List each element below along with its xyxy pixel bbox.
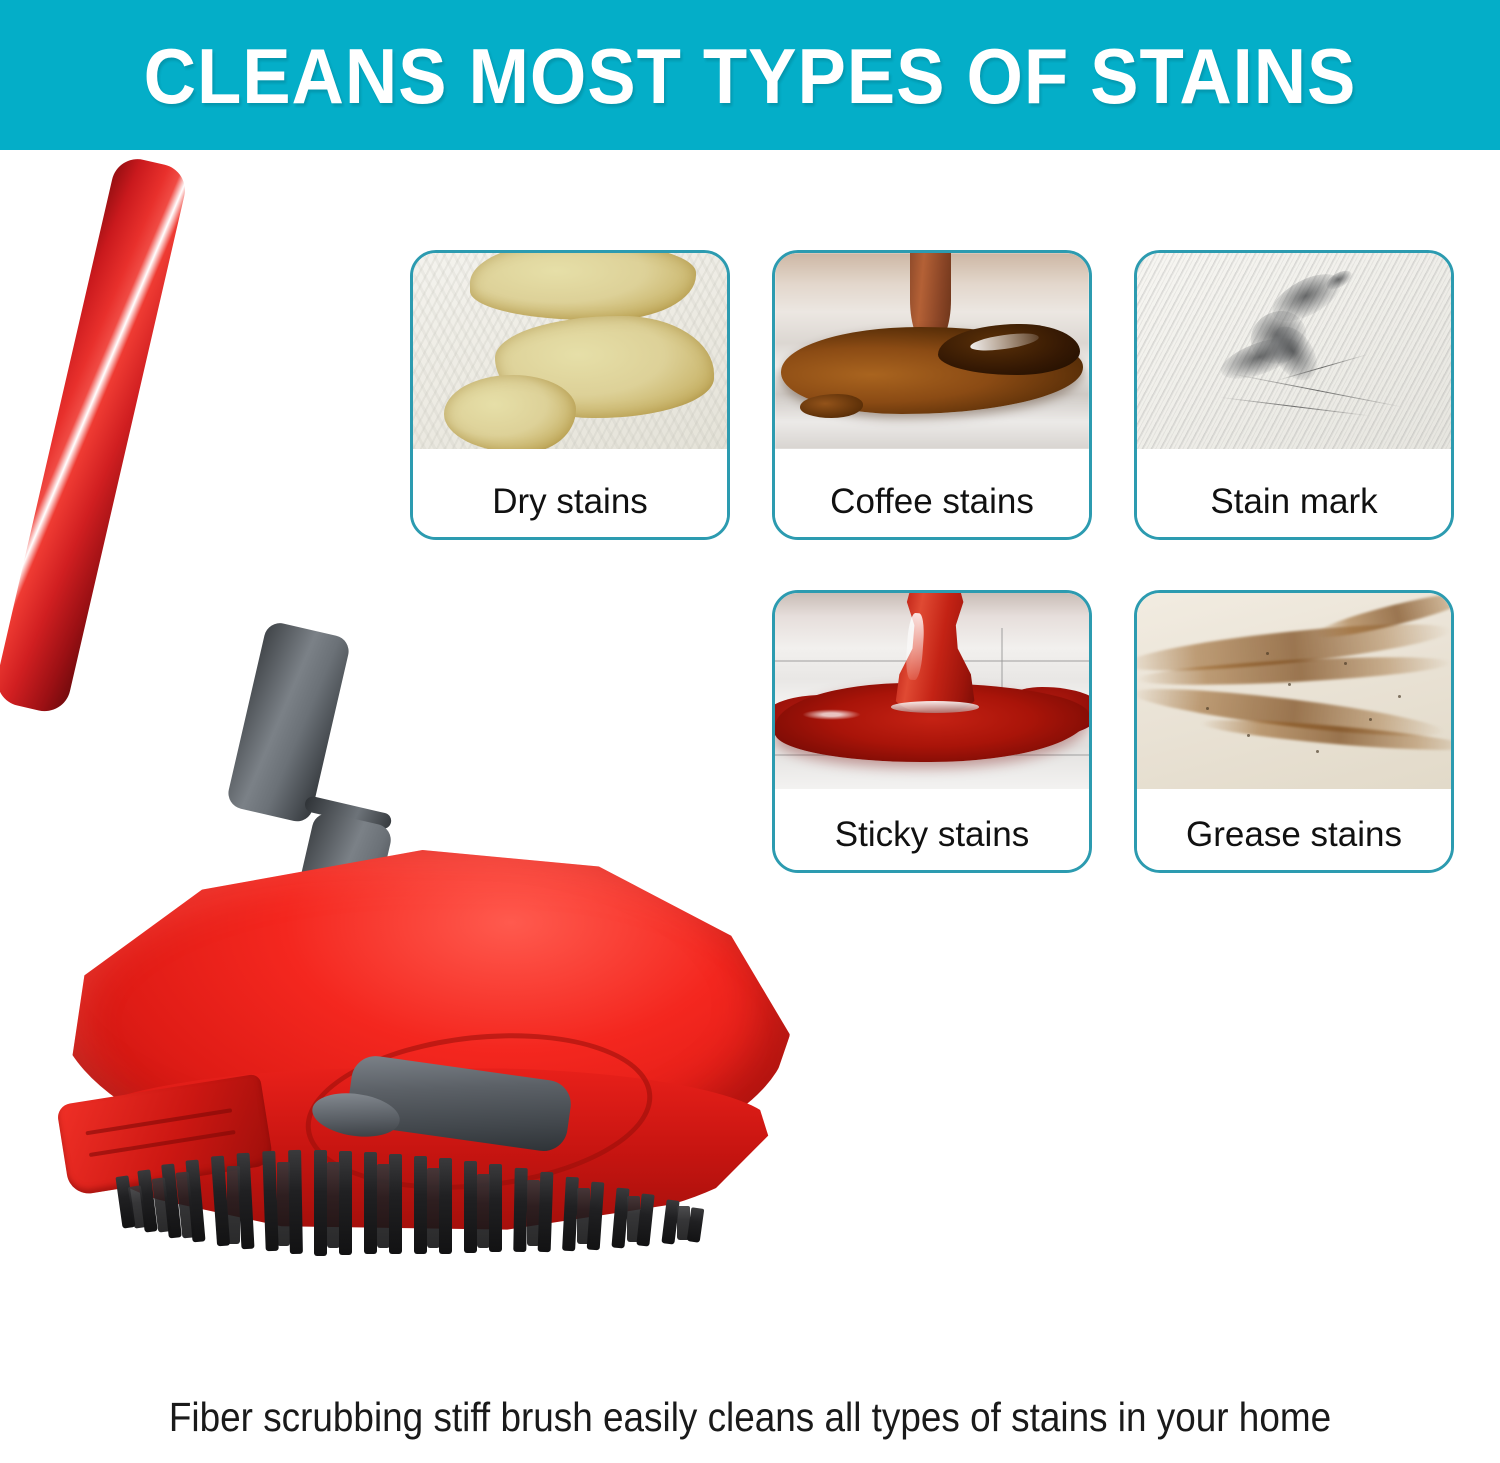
bristle [577, 1188, 590, 1244]
bristle [489, 1164, 502, 1252]
bristle [277, 1162, 290, 1246]
bristle [527, 1180, 540, 1246]
bristle [288, 1150, 303, 1254]
grease-speck [1266, 652, 1269, 655]
stain-card-sticky-stains[interactable]: Sticky stains [772, 590, 1092, 873]
bottle-base [891, 701, 979, 713]
bristle [464, 1161, 477, 1253]
bristle [314, 1150, 327, 1256]
stain-card-coffee-stains[interactable]: Coffee stains [772, 250, 1092, 540]
stain-card-photo [775, 253, 1089, 449]
stain-card-label: Sticky stains [775, 804, 1089, 870]
stain-card-label: Dry stains [413, 471, 727, 537]
bristle [477, 1174, 490, 1248]
product-grey-collar [225, 620, 352, 824]
bristle [677, 1206, 690, 1240]
bristle [377, 1164, 390, 1248]
product-bristle-field [115, 1150, 755, 1280]
bristle [364, 1152, 377, 1254]
grease-speck [1288, 683, 1291, 686]
bristle [513, 1168, 527, 1252]
header-banner: CLEANS MOST TYPES OF STAINS [0, 0, 1500, 150]
stain-card-stain-mark[interactable]: Stain mark [1134, 250, 1454, 540]
stain-card-photo [413, 253, 727, 449]
stain-card-label: Coffee stains [775, 471, 1089, 537]
footer-caption: Fiber scrubbing stiff brush easily clean… [75, 1392, 1425, 1442]
bristle [627, 1196, 640, 1242]
bristle [227, 1166, 240, 1244]
grease-speck [1206, 707, 1209, 710]
stain-card-photo [1137, 593, 1451, 789]
bristle [439, 1158, 452, 1254]
stain-card-dry-stains[interactable]: Dry stains [410, 250, 730, 540]
grease-speck [1344, 662, 1347, 665]
bristle [339, 1151, 352, 1255]
bristle [427, 1168, 440, 1248]
bristle [414, 1156, 427, 1254]
page-title: CLEANS MOST TYPES OF STAINS [53, 34, 1448, 118]
stain-card-grease-stains[interactable]: Grease stains [1134, 590, 1454, 873]
stain-card-photo [775, 593, 1089, 789]
stain-card-photo [1137, 253, 1451, 449]
dry-stain-blob [444, 375, 576, 449]
stain-card-label: Grease stains [1137, 804, 1451, 870]
coffee-drip [800, 394, 863, 418]
bristle [389, 1154, 402, 1254]
grease-speck [1398, 695, 1401, 698]
dry-stain-blob [470, 253, 696, 320]
brush-head-tab-slot [85, 1108, 232, 1135]
product-infographic: CLEANS MOST TYPES OF STAINS [0, 0, 1500, 1463]
product-brush-head [55, 850, 790, 1270]
product-pole-upper [0, 154, 190, 716]
bristle [327, 1162, 340, 1248]
grease-speck [1247, 734, 1250, 737]
grease-speck [1316, 750, 1319, 753]
stain-card-label: Stain mark [1137, 471, 1451, 537]
